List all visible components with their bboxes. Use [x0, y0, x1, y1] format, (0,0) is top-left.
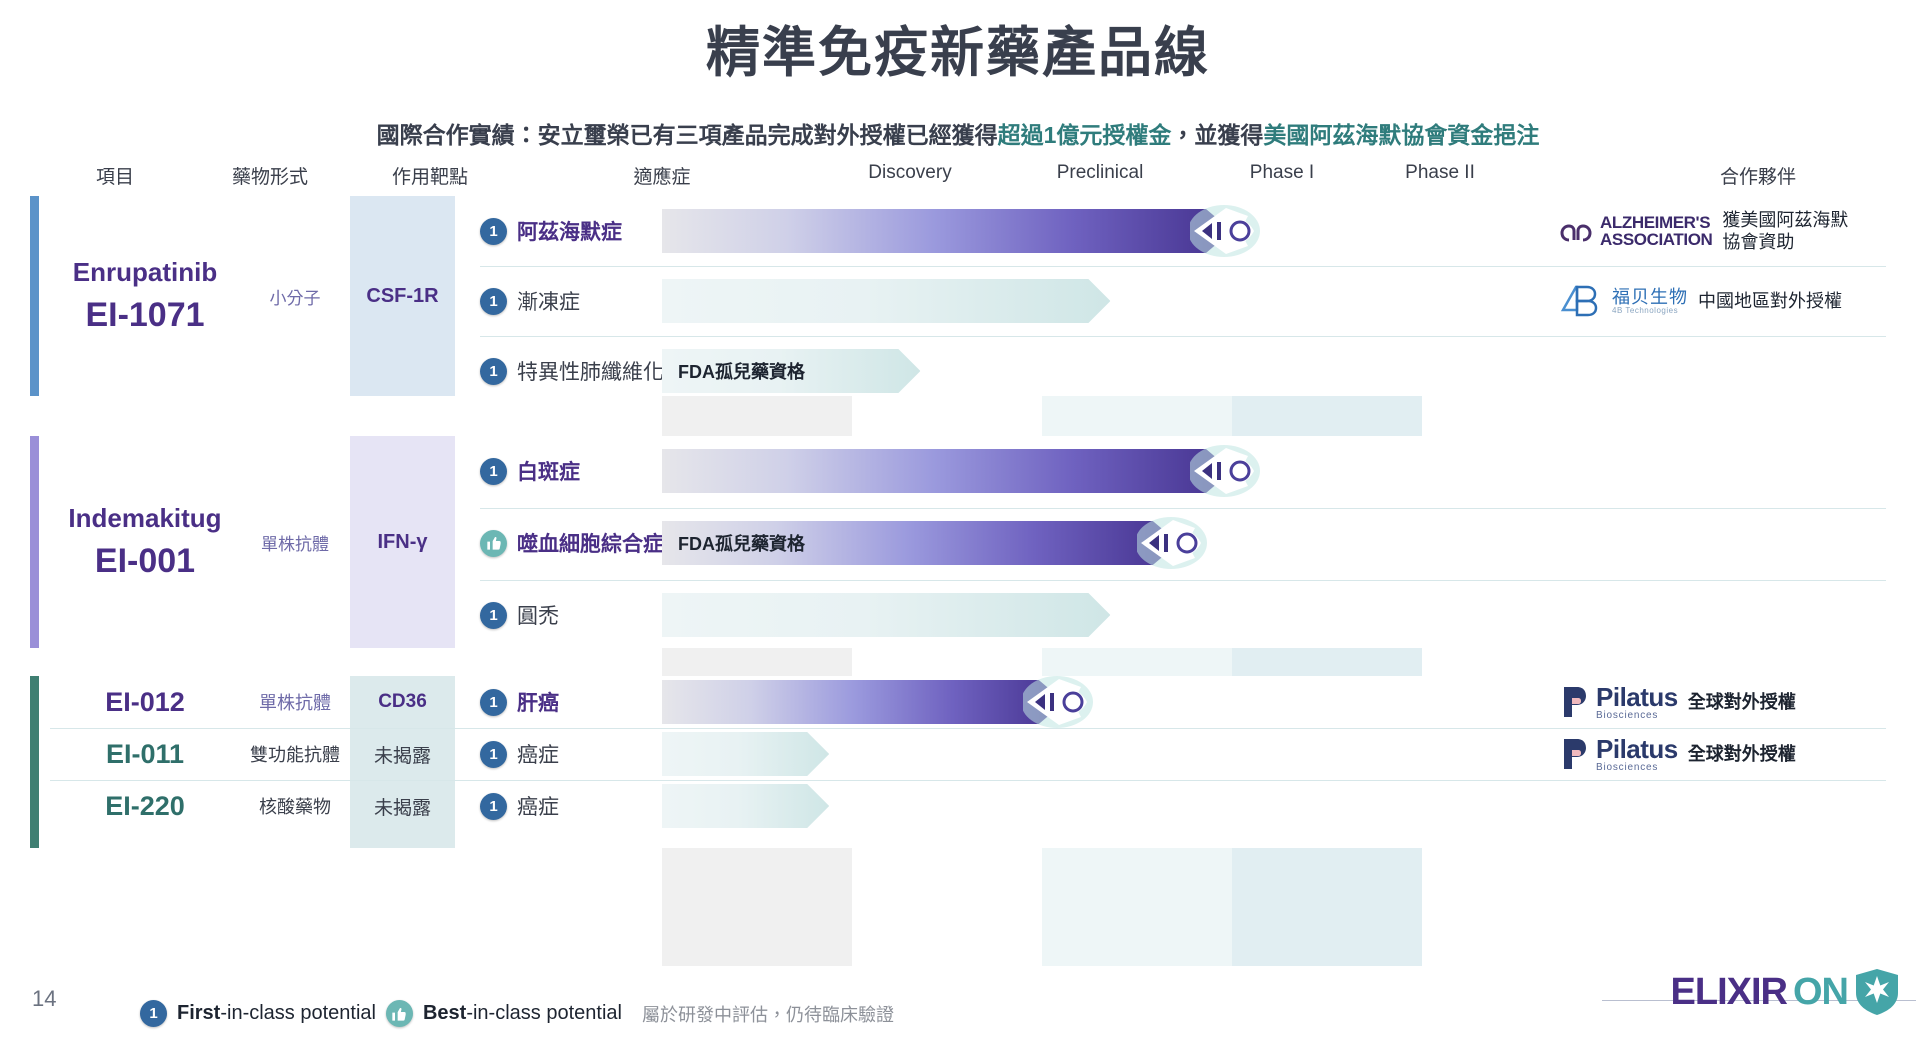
indication-label: 癌症 — [517, 791, 559, 821]
fda-orphan-drug-label: FDA孤兒藥資格 — [678, 358, 805, 384]
drug-code: EI-220 — [105, 791, 185, 822]
rocket-icon — [1190, 204, 1266, 258]
pilatus-name-block: PilatusBiosciences — [1596, 736, 1678, 773]
pilatus-biosciences-logo: PilatusBiosciences — [1560, 736, 1678, 773]
first-in-class-badge-icon: 1 — [480, 602, 507, 629]
indication-cell: 1特異性肺纖維化 — [480, 336, 685, 406]
pipeline-block: IndemakitugEI-001單株抗體IFN-γ1白斑症噬血細胞綜合症FDA… — [30, 436, 1886, 648]
target-cell: 未揭露 — [350, 780, 455, 832]
indication-cell: 1漸凍症 — [480, 266, 685, 336]
indication-label: 癌症 — [517, 739, 559, 769]
indication-cell: 噬血細胞綜合症 — [480, 508, 685, 578]
best-in-class-badge-icon — [480, 530, 507, 557]
legend-first-label: First-in-class potential — [177, 1002, 376, 1025]
partner-cell: ALZHEIMER'SASSOCIATION獲美國阿茲海默協會資助 — [1560, 196, 1848, 266]
header-phase1: Phase I — [1192, 162, 1372, 184]
subtitle-part1: 國際合作實績：安立璽榮已有三項產品完成對外授權已經獲得 — [377, 122, 998, 148]
modality-value: 雙功能抗體 — [250, 741, 340, 767]
block-accent-bar — [30, 436, 39, 648]
indication-label: 肝癌 — [517, 687, 559, 717]
progress-bar — [662, 593, 1110, 637]
progress-bar — [662, 209, 1232, 253]
indication-cell: 1肝癌 — [480, 676, 685, 728]
target-cell: CD36 — [350, 676, 455, 728]
pipeline-block: EnrupatinibEI-1071小分子CSF-1R1阿茲海默症ALZHEIM… — [30, 196, 1886, 396]
progress-bar-fill — [662, 209, 1232, 253]
header-indication: 適應症 — [562, 162, 762, 189]
first-in-class-badge-icon: 1 — [480, 793, 507, 820]
drug-code: EI-001 — [68, 540, 221, 583]
drug-generic-name: Indemakitug — [68, 502, 221, 535]
indication-cell: 1圓禿 — [480, 580, 685, 650]
legend-best-label: Best-in-class potential — [423, 1002, 622, 1025]
progress-bar — [662, 732, 829, 776]
first-in-class-badge-icon: 1 — [480, 358, 507, 385]
progress-bar — [662, 449, 1232, 493]
subtitle-mid: ，並獲得 — [1171, 122, 1263, 148]
fubei-name-en: 4B Technologies — [1612, 306, 1688, 315]
row-divider — [480, 508, 1886, 509]
indication-label: 特異性肺纖維化 — [517, 356, 664, 386]
alzheimers-line1: ALZHEIMER'S — [1600, 213, 1710, 232]
pilatus-name: Pilatus — [1596, 736, 1678, 762]
progress-bar: FDA孤兒藥資格 — [662, 349, 920, 393]
fubei-mark-icon — [1560, 283, 1606, 319]
partner-note: 全球對外授權 — [1688, 691, 1796, 714]
alzheimers-line2: ASSOCIATION — [1600, 230, 1712, 249]
modality-cell: 雙功能抗體 — [240, 728, 350, 780]
alzheimers-mark-icon — [1560, 214, 1594, 248]
first-in-class-badge-icon: 1 — [480, 689, 507, 716]
modality-value: 小分子 — [270, 284, 321, 309]
first-in-class-badge-icon: 1 — [480, 458, 507, 485]
progress-bar-fill — [662, 449, 1232, 493]
header-modality: 藥物形式 — [200, 162, 340, 189]
subtitle-highlight-association: 美國阿茲海默協會資金挹注 — [1263, 122, 1539, 148]
brand-text-primary: ELIXIR — [1671, 971, 1787, 1014]
partner-cell: 福贝生物4B Technologies中國地區對外授權 — [1560, 266, 1842, 336]
block-accent-bar — [30, 676, 39, 848]
fubei-name-block: 福贝生物4B Technologies — [1612, 288, 1688, 315]
indication-label: 圓禿 — [517, 600, 559, 630]
alzheimers-association-name: ALZHEIMER'SASSOCIATION — [1600, 214, 1712, 249]
pilatus-name: Pilatus — [1596, 684, 1678, 710]
progress-bar — [662, 680, 1065, 724]
modality-cell: 單株抗體 — [240, 436, 350, 648]
target-value: IFN-γ — [378, 531, 428, 554]
progress-bar — [662, 784, 829, 828]
modality-cell: 小分子 — [240, 196, 350, 396]
progress-bar-fill — [662, 680, 1065, 724]
page-subtitle: 國際合作實績：安立璽榮已有三項產品完成對外授權已經獲得超過1億元授權金，並獲得美… — [0, 116, 1916, 150]
column-headers: 項目 藥物形式 作用靶點 適應症 Discovery Preclinical P… — [0, 162, 1916, 192]
indication-cell: 1癌症 — [480, 728, 685, 780]
program-name-cell: EnrupatinibEI-1071 — [50, 196, 240, 396]
program-code-cell: EI-220 — [50, 780, 240, 832]
modality-value: 單株抗體 — [259, 689, 331, 715]
brand-text-secondary: ON — [1793, 971, 1848, 1014]
progress-bar-fill — [662, 784, 829, 828]
target-value: 未揭露 — [374, 741, 431, 768]
drug-code: EI-011 — [106, 739, 184, 770]
indication-cell: 1阿茲海默症 — [480, 196, 685, 266]
modality-cell: 核酸藥物 — [240, 780, 350, 832]
pilatus-name-block: PilatusBiosciences — [1596, 684, 1678, 721]
page-number: 14 — [32, 986, 56, 1012]
pilatus-mark-icon — [1560, 685, 1590, 719]
fubei-biotech-logo: 福贝生物4B Technologies — [1560, 283, 1688, 319]
indication-label: 阿茲海默症 — [517, 216, 622, 246]
header-program: 項目 — [60, 162, 170, 189]
first-in-class-badge-icon: 1 — [480, 288, 507, 315]
pilatus-mark-icon — [1560, 737, 1590, 771]
header-partner: 合作夥伴 — [1608, 162, 1908, 189]
row-divider — [480, 336, 1886, 337]
pipeline-board: EnrupatinibEI-1071小分子CSF-1R1阿茲海默症ALZHEIM… — [30, 196, 1886, 966]
target-value: 未揭露 — [374, 793, 431, 820]
program-name-cell: IndemakitugEI-001 — [50, 436, 240, 648]
rocket-icon — [1190, 444, 1266, 498]
target-cell: CSF-1R — [350, 196, 455, 396]
shield-star-icon — [1854, 968, 1900, 1016]
indication-label: 漸凍症 — [517, 286, 580, 316]
partner-note: 全球對外授權 — [1688, 743, 1796, 766]
header-preclinical: Preclinical — [1000, 162, 1200, 184]
company-logo: ELIXIRON — [1671, 968, 1900, 1016]
fda-orphan-drug-label: FDA孤兒藥資格 — [678, 530, 805, 556]
partner-note: 中國地區對外授權 — [1698, 290, 1842, 313]
drug-generic-name: Enrupatinib — [73, 256, 217, 289]
pilatus-biosciences-logo: PilatusBiosciences — [1560, 684, 1678, 721]
legend: 1 First-in-class potential Best-in-class… — [140, 1000, 894, 1027]
drug-code: EI-012 — [105, 687, 185, 718]
target-value: CD36 — [378, 691, 427, 713]
progress-bar: FDA孤兒藥資格 — [662, 521, 1179, 565]
progress-bar-fill — [662, 593, 1110, 637]
indication-label: 白斑症 — [517, 456, 580, 486]
target-cell: IFN-γ — [350, 436, 455, 648]
row-divider — [480, 580, 1886, 581]
subtitle-highlight-amount: 超過1億元授權金 — [998, 122, 1172, 148]
block-accent-bar — [30, 196, 39, 396]
legend-note: 屬於研發中評估，仍待臨床驗證 — [642, 1001, 894, 1027]
progress-bar-fill — [662, 279, 1110, 323]
program-code-cell: EI-012 — [50, 676, 240, 728]
program-code-cell: EI-011 — [50, 728, 240, 780]
indication-cell: 1白斑症 — [480, 436, 685, 506]
page-title: 精準免疫新藥產品線 — [0, 8, 1916, 87]
pipeline-block: EI-012單株抗體CD361肝癌PilatusBiosciences全球對外授… — [30, 676, 1886, 848]
partner-note: 獲美國阿茲海默協會資助 — [1722, 209, 1848, 254]
fubei-name-cn: 福贝生物 — [1612, 288, 1688, 306]
target-value: CSF-1R — [366, 285, 438, 308]
header-phase2: Phase II — [1350, 162, 1530, 184]
modality-cell: 單株抗體 — [240, 676, 350, 728]
indication-cell: 1癌症 — [480, 780, 685, 832]
progress-bar — [662, 279, 1110, 323]
first-in-class-badge-icon: 1 — [480, 218, 507, 245]
progress-bar-fill — [662, 732, 829, 776]
target-cell: 未揭露 — [350, 728, 455, 780]
rocket-icon — [1023, 675, 1099, 729]
partner-cell: PilatusBiosciences全球對外授權 — [1560, 676, 1796, 728]
legend-first-badge-icon: 1 — [140, 1000, 167, 1027]
header-discovery: Discovery — [810, 162, 1010, 184]
modality-value: 核酸藥物 — [259, 793, 331, 819]
first-in-class-badge-icon: 1 — [480, 741, 507, 768]
partner-cell: PilatusBiosciences全球對外授權 — [1560, 728, 1796, 780]
rocket-icon — [1137, 516, 1213, 570]
indication-label: 噬血細胞綜合症 — [517, 528, 664, 558]
legend-best-badge-icon — [386, 1000, 413, 1027]
drug-code: EI-1071 — [73, 294, 217, 337]
alzheimers-association-logo: ALZHEIMER'SASSOCIATION — [1560, 214, 1712, 249]
modality-value: 單株抗體 — [261, 530, 329, 555]
header-target: 作用靶點 — [360, 162, 500, 189]
